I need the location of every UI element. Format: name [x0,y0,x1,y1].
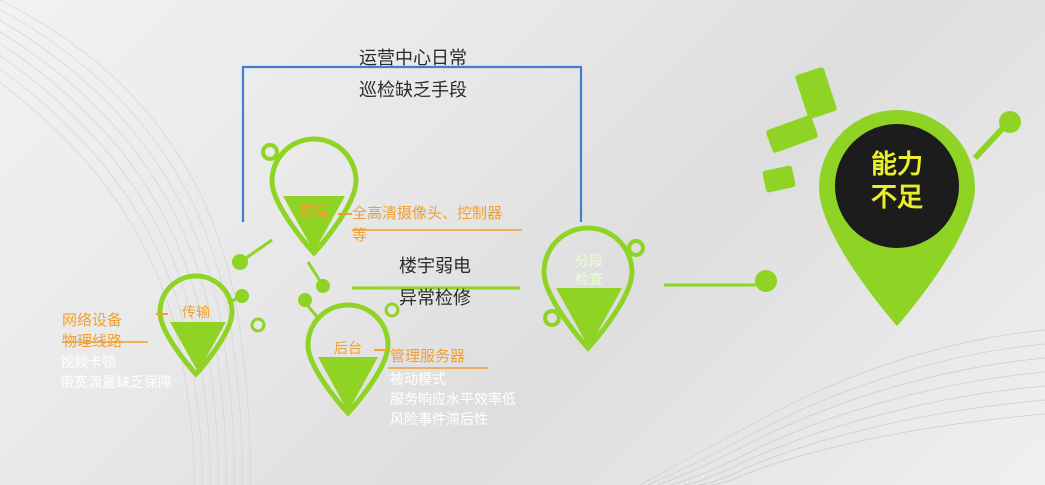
backend-detail-line3: 风险事件滞后性 [390,411,488,429]
frontend-annotation-line1: 全高清摄像头、控制器 [352,204,502,223]
transmission-detail-line1: 视频卡顿 [60,354,116,372]
node-frontend-label[interactable]: 前端 [284,203,344,221]
transmission-detail-line2: 带宽流量缺乏保障 [60,374,172,392]
node-transmission-label[interactable]: 传输 [166,304,226,322]
node-backend-label[interactable]: 后台 [318,340,378,358]
node-capability-label-line1[interactable]: 能力 [847,148,947,181]
transmission-annotation-line1: 网络设备 [62,311,122,330]
node-segment-check-label-line2[interactable]: 检查 [558,271,620,287]
diagram-graphics [0,0,1045,485]
frontend-annotation-line2: 等 [352,226,367,245]
node-capability-label-line2[interactable]: 不足 [847,181,947,214]
backend-annotation-heading: 管理服务器 [390,347,465,366]
transmission-annotation-line2: 物理线路 [62,332,122,351]
top-title-line1: 运营中心日常 [303,47,523,70]
backend-detail-line1: 被动模式 [390,371,446,389]
center-title-line2: 异常检修 [355,287,515,310]
backend-detail-line2: 服务响应水平效率低 [390,391,516,409]
top-title-line2: 巡检缺乏手段 [303,79,523,102]
node-segment-check-label-line1[interactable]: 分段 [558,253,620,269]
slide-canvas: 运营中心日常 巡检缺乏手段 楼宇弱电 异常检修 前端 传输 后台 分段 检查 能… [0,0,1045,485]
center-title-line1: 楼宇弱电 [355,255,515,278]
